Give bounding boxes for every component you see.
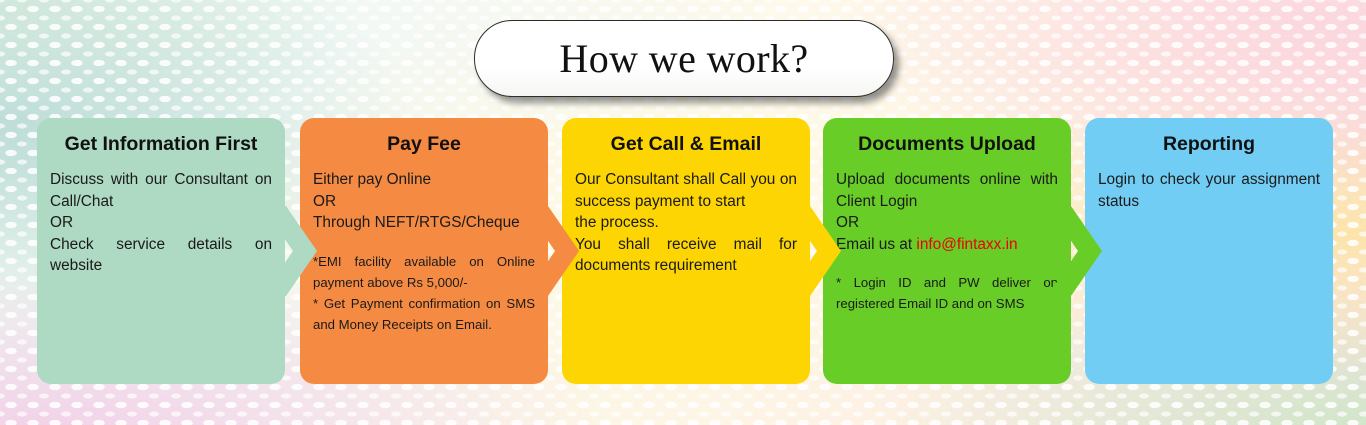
step-title-2: Pay Fee [313,132,535,156]
step-card-get-information-first[interactable]: Get Information First Discuss with our C… [37,118,285,384]
step-body-4: Upload documents online with Client Logi… [836,169,1058,255]
step-title-5: Reporting [1098,132,1320,156]
page-title: How we work? [559,35,808,82]
step-card-get-call-and-email[interactable]: Get Call & Email Our Consultant shall Ca… [562,118,810,384]
step-card-reporting[interactable]: Reporting Login to check your assignment… [1085,118,1333,384]
step-card-documents-upload[interactable]: Documents Upload Upload documents online… [823,118,1071,384]
step-body-1: Discuss with our Consultant on Call/Chat… [50,169,272,277]
step-card-pay-fee[interactable]: Pay Fee Either pay Online OR Through NEF… [300,118,548,384]
page-title-plate: How we work? [474,20,894,97]
process-steps: Get Information First Discuss with our C… [0,118,1366,384]
step-body-3: Our Consultant shall Call you on success… [575,169,797,277]
step-title-1: Get Information First [50,132,272,156]
step-title-4: Documents Upload [836,132,1058,156]
step-body-2: Either pay Online OR Through NEFT/RTGS/C… [313,169,535,234]
step-title-3: Get Call & Email [575,132,797,156]
step-note-2: *EMI facility available on Online paymen… [313,251,535,335]
contact-email-link[interactable]: info@fintaxx.in [916,236,1017,253]
step-note-4: * Login ID and PW deliver on registered … [836,272,1058,314]
step-body-5: Login to check your assignment status [1098,169,1320,212]
